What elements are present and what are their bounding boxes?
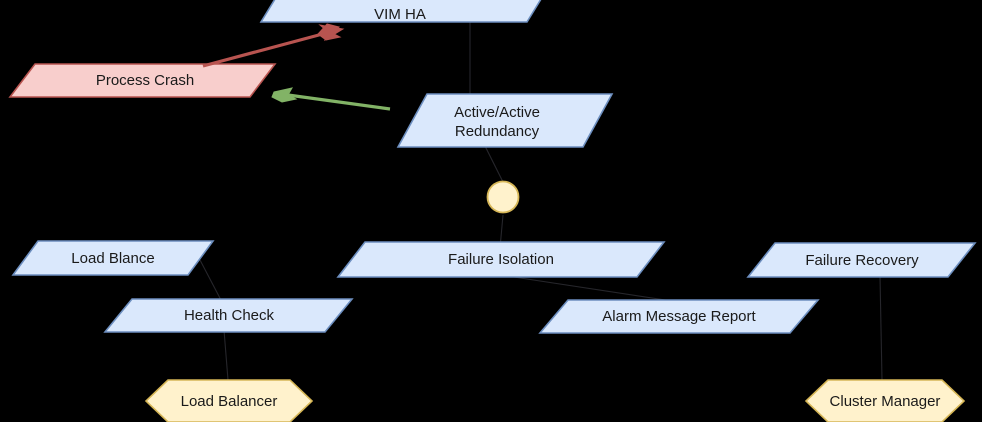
- process-crash-label: Process Crash: [96, 72, 194, 89]
- node-cluster-manager[interactable]: Cluster Manager: [806, 380, 964, 422]
- hub-circle-shape[interactable]: [488, 182, 519, 213]
- failure-recovery-label: Failure Recovery: [805, 252, 919, 269]
- active-active-label-line1: Active/Active: [454, 104, 540, 121]
- edge-loadblance-healthcheck: [200, 260, 222, 302]
- node-alarm-message-report[interactable]: Alarm Message Report: [540, 300, 818, 333]
- edge-healthcheck-loadbalancer: [224, 330, 228, 380]
- diagram-canvas: VIM HA Process Crash Active/Active Redun…: [0, 0, 982, 422]
- failure-isolation-label: Failure Isolation: [448, 251, 554, 268]
- edge-recovery-clustermanager: [880, 276, 882, 380]
- node-load-balancer[interactable]: Load Balancer: [146, 380, 312, 422]
- edge-active-active-to-process-crash[interactable]: [272, 88, 390, 109]
- edge-isolation-alarm: [494, 274, 672, 301]
- diagram-svg: VIM HA Process Crash Active/Active Redun…: [0, 0, 982, 422]
- edge-active-hub: [483, 142, 503, 182]
- load-blance-label: Load Blance: [71, 250, 154, 267]
- node-active-active-redundancy[interactable]: Active/Active Redundancy: [398, 94, 612, 147]
- alarm-message-report-label: Alarm Message Report: [602, 308, 756, 325]
- active-active-label-line2: Redundancy: [455, 123, 540, 140]
- node-hub-circle[interactable]: [488, 182, 519, 213]
- node-load-blance[interactable]: Load Blance: [13, 241, 213, 275]
- vim-ha-label: VIM HA: [374, 6, 426, 23]
- health-check-label: Health Check: [184, 307, 275, 324]
- edge-process-crash-to-vim-ha[interactable]: [203, 24, 343, 66]
- node-process-crash[interactable]: Process Crash: [10, 64, 275, 97]
- load-balancer-label: Load Balancer: [181, 393, 278, 410]
- cluster-manager-label: Cluster Manager: [830, 393, 941, 410]
- node-health-check[interactable]: Health Check: [105, 299, 352, 332]
- edge-process-crash-to-vim-ha-line: [203, 32, 330, 66]
- node-failure-isolation[interactable]: Failure Isolation: [338, 242, 664, 277]
- edge-active-active-to-process-crash-line: [288, 95, 390, 109]
- node-failure-recovery[interactable]: Failure Recovery: [748, 243, 975, 277]
- node-vim-ha[interactable]: VIM HA: [261, 0, 549, 23]
